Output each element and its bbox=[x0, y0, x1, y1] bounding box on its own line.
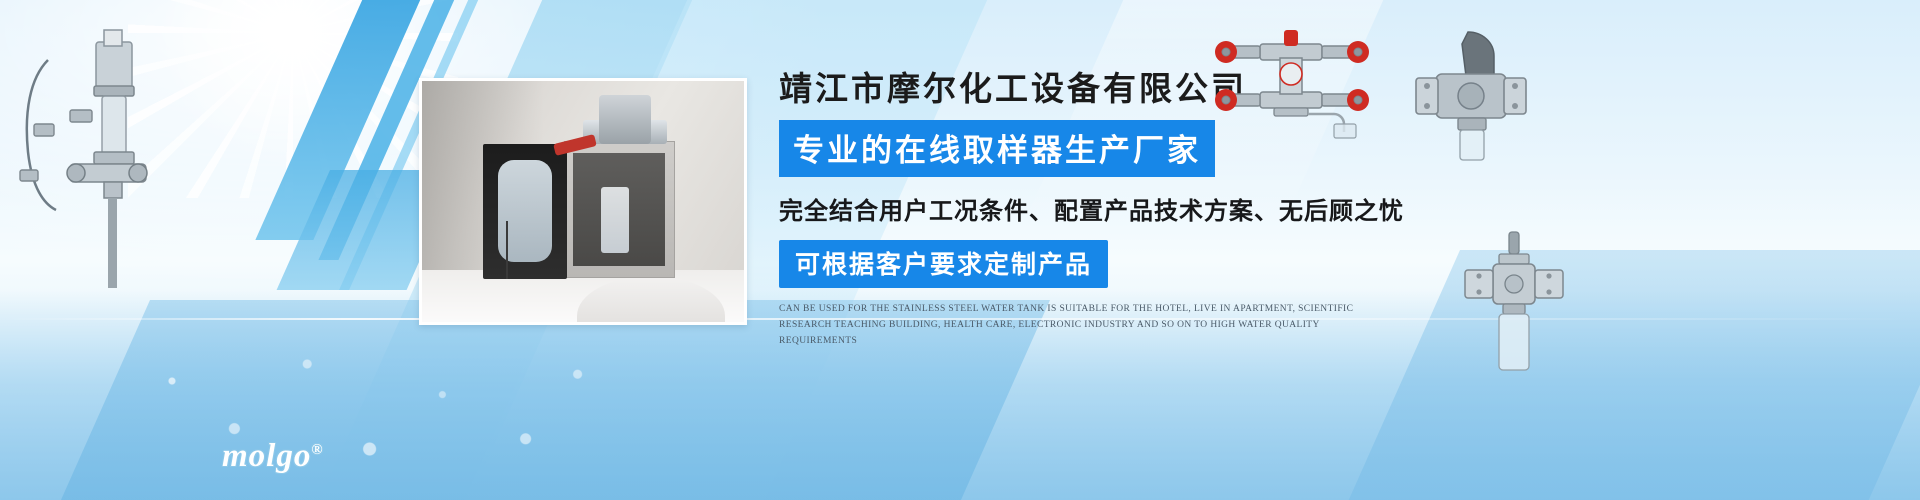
brand-logo-text: molgo bbox=[222, 438, 311, 474]
brand-logo: molgo® bbox=[222, 438, 324, 475]
wellhead-valve-assembly-icon bbox=[1212, 30, 1382, 140]
water-bubbles-icon bbox=[120, 330, 640, 500]
sampling-cabinet-photo bbox=[419, 78, 747, 325]
inline-sampler-icon bbox=[1455, 230, 1575, 390]
cta-highlight: 可根据客户要求定制产品 bbox=[779, 240, 1108, 288]
registered-trademark-icon: ® bbox=[311, 442, 323, 458]
headline-highlight: 专业的在线取样器生产厂家 bbox=[779, 120, 1215, 177]
english-description: CAN BE USED FOR THE STAINLESS STEEL WATE… bbox=[779, 302, 1379, 349]
sampler-assembly-icon bbox=[10, 20, 170, 310]
banner-subline: 完全结合用户工况条件、配置产品技术方案、无后顾之忧 bbox=[779, 191, 1399, 226]
promo-banner: 靖江市摩尔化工设备有限公司 专业的在线取样器生产厂家 完全结合用户工况条件、配置… bbox=[0, 0, 1920, 500]
flanged-valve-icon bbox=[1410, 28, 1530, 168]
